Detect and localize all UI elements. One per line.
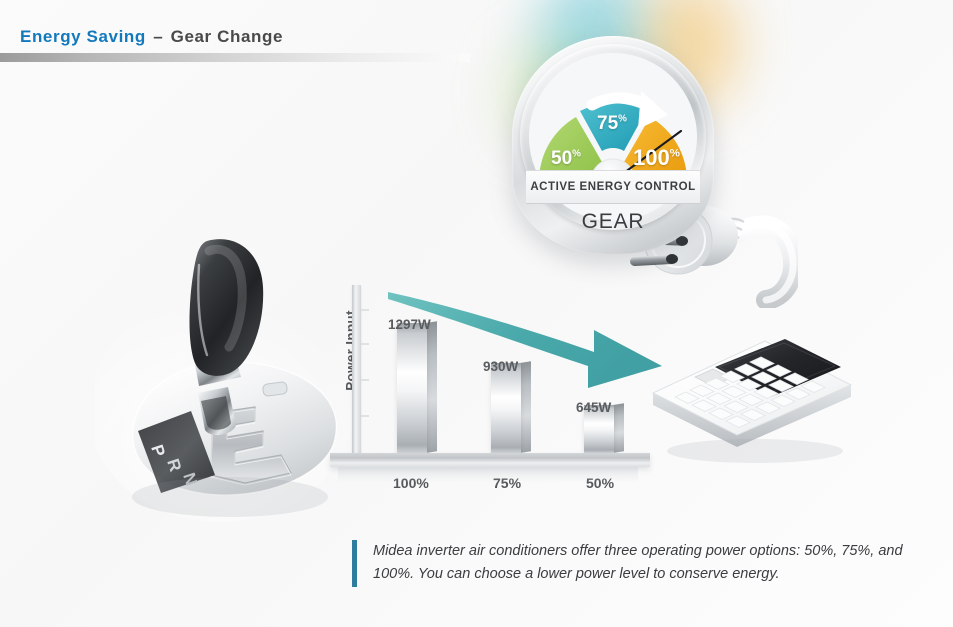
gear-shifter-illustration: P R N xyxy=(95,225,360,525)
bar-value-100: 1297W xyxy=(388,317,431,332)
gauge-widget: 50% 75% 100% ACTIVE ENERGY CONTROL GEAR xyxy=(512,36,714,258)
page-title-rest: Gear Change xyxy=(171,27,283,46)
chart-y-tick xyxy=(361,415,369,417)
chart-base-reflection xyxy=(338,467,638,483)
chart-y-tick xyxy=(361,309,369,311)
gauge-label-50: 50% xyxy=(551,148,581,170)
bar-side-face xyxy=(520,361,531,453)
chart-y-axis xyxy=(352,285,361,457)
bar-side-face xyxy=(426,321,437,453)
calculator-illustration xyxy=(645,305,860,470)
gauge-label-100: 100% xyxy=(633,145,680,171)
gauge-word-label: GEAR xyxy=(512,210,714,234)
title-divider xyxy=(0,53,470,62)
chart-y-tick xyxy=(361,343,369,345)
gauge-caption-text: ACTIVE ENERGY CONTROL xyxy=(530,181,695,193)
power-input-bar-chart: Power Input 1297W 100% 930W 75% 645W 50% xyxy=(330,283,650,498)
bar-side-face xyxy=(613,403,624,453)
bar-75 xyxy=(491,363,521,453)
caption-block: Midea inverter air conditioners offer th… xyxy=(352,540,933,587)
bar-value-50: 645W xyxy=(576,400,611,415)
chart-y-tick xyxy=(361,379,369,381)
bar-100 xyxy=(397,323,427,453)
bar-value-75: 930W xyxy=(483,359,518,374)
calculator-icon xyxy=(645,305,860,470)
page-title-accent: Energy Saving xyxy=(20,27,146,46)
slide-canvas: Energy Saving – Gear Change xyxy=(0,0,953,627)
gauge-label-75: 75% xyxy=(597,113,627,135)
gauge-caption-strip: ACTIVE ENERGY CONTROL xyxy=(526,170,700,204)
gear-shifter-icon: P R N xyxy=(95,225,360,525)
page-title: Energy Saving – Gear Change xyxy=(20,27,283,47)
page-title-separator: – xyxy=(151,27,165,46)
caption-text: Midea inverter air conditioners offer th… xyxy=(373,540,933,587)
slide-header: Energy Saving – Gear Change xyxy=(0,0,953,70)
chart-base-platform xyxy=(330,453,650,467)
